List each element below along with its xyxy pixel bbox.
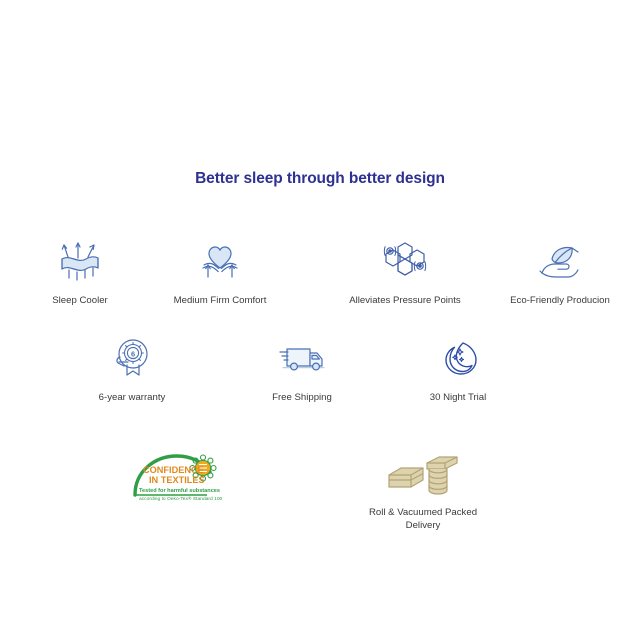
moon-stars-icon	[430, 333, 486, 385]
hand-leaf-icon	[530, 236, 590, 288]
feature-eco-friendly-production: Eco-Friendly Producion	[480, 236, 640, 308]
page-title: Better sleep through better design	[0, 170, 640, 188]
cert-line-2: IN TEXTILES	[149, 475, 205, 485]
feature-label: 6-year warranty	[99, 392, 166, 405]
airflow-mattress-icon	[52, 236, 108, 288]
cert-line-3: Tested for harmful substances	[139, 488, 220, 494]
rolled-mattress-icon	[383, 448, 463, 500]
feature-warranty: 6 6-year warranty	[52, 333, 212, 405]
feature-label: Free Shipping	[272, 392, 332, 405]
feature-highlights-page: Better sleep through better design Sleep…	[0, 0, 640, 640]
feature-label: Alleviates Pressure Points	[349, 295, 460, 308]
feature-sleep-cooler: Sleep Cooler	[0, 236, 160, 308]
oeko-tex-confidence-in-textiles-logo: CONFIDENCE IN TEXTILES Tested for harmfu…	[129, 448, 225, 506]
delivery-truck-icon	[272, 333, 332, 385]
feature-medium-firm-comfort: Medium Firm Comfort	[140, 236, 300, 308]
feature-label: Sleep Cooler	[52, 295, 107, 308]
feature-oeko-tex-certificate: CONFIDENCE IN TEXTILES Tested for harmfu…	[97, 448, 257, 506]
cert-line-1: CONFIDENCE	[143, 465, 204, 475]
cert-line-4: according to Oeko-Tex® Standard 100	[139, 495, 223, 502]
feature-roll-packed-delivery: Roll & Vacuumed Packed Delivery	[343, 448, 503, 532]
feature-label: Medium Firm Comfort	[174, 295, 267, 308]
feature-label: Roll & Vacuumed Packed Delivery	[368, 507, 478, 532]
heart-support-icon	[190, 236, 250, 288]
feature-free-shipping: Free Shipping	[222, 333, 382, 405]
warranty-badge-number: 6	[131, 350, 135, 359]
feature-night-trial: 30 Night Trial	[378, 333, 538, 405]
feature-label: Eco-Friendly Producion	[510, 295, 610, 308]
feature-label: 30 Night Trial	[430, 392, 487, 405]
honeycomb-pressure-icon	[375, 236, 435, 288]
feature-alleviates-pressure-points: Alleviates Pressure Points	[325, 236, 485, 308]
warranty-badge-icon: 6	[104, 333, 160, 385]
